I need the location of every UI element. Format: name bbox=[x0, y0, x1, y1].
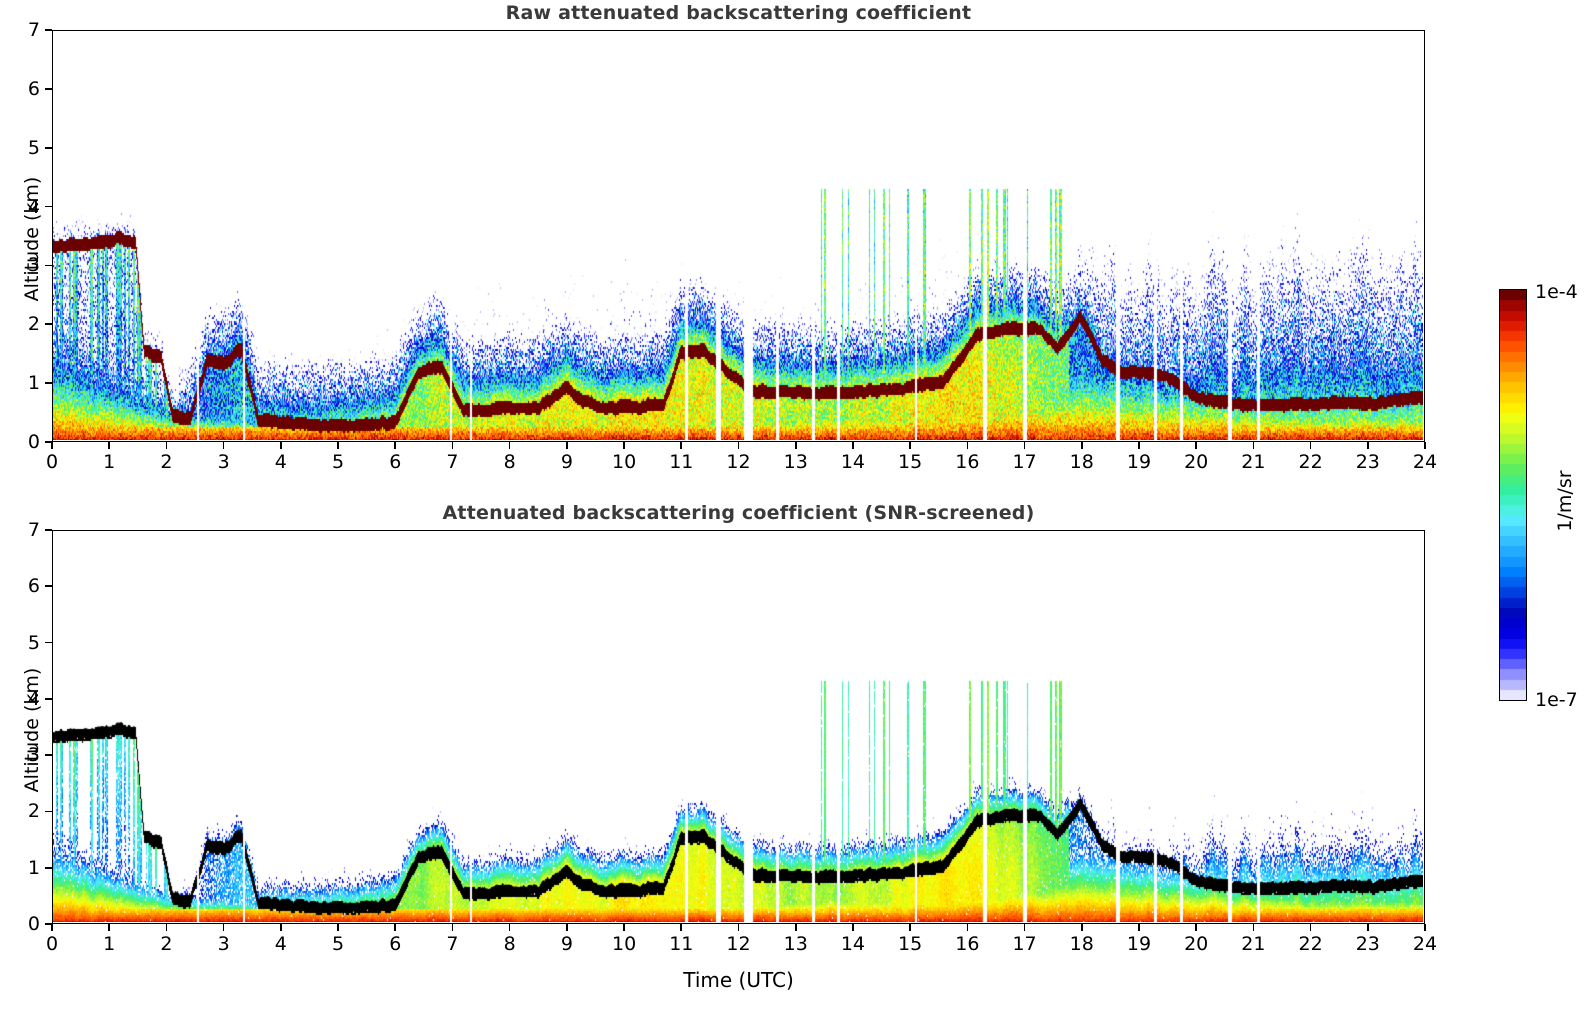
x-tick-label-raw-0: 0 bbox=[46, 451, 58, 473]
x-tick-label-scr-3: 3 bbox=[218, 933, 230, 955]
x-tick-label-scr-6: 6 bbox=[389, 933, 401, 955]
x-tick-scr-3 bbox=[223, 924, 225, 931]
x-tick-raw-6 bbox=[394, 442, 396, 449]
x-axis-label: Time (UTC) bbox=[52, 968, 1425, 992]
y-tick-scr-3 bbox=[45, 754, 52, 756]
x-tick-scr-4 bbox=[280, 924, 282, 931]
x-tick-label-scr-4: 4 bbox=[275, 933, 287, 955]
x-tick-scr-9 bbox=[566, 924, 568, 931]
y-tick-label-scr-2: 2 bbox=[10, 800, 40, 822]
y-tick-raw-2 bbox=[45, 323, 52, 325]
x-tick-raw-17 bbox=[1024, 442, 1026, 449]
y-tick-label-raw-5: 5 bbox=[10, 137, 40, 159]
y-tick-label-raw-3: 3 bbox=[10, 254, 40, 276]
y-tick-raw-1 bbox=[45, 382, 52, 384]
x-tick-label-raw-2: 2 bbox=[160, 451, 172, 473]
x-tick-scr-23 bbox=[1367, 924, 1369, 931]
y-tick-label-raw-4: 4 bbox=[10, 196, 40, 218]
panel-title-raw: Raw attenuated backscattering coefficien… bbox=[52, 2, 1425, 24]
x-tick-label-raw-8: 8 bbox=[504, 451, 516, 473]
x-tick-label-raw-14: 14 bbox=[841, 451, 865, 473]
x-tick-raw-21 bbox=[1253, 442, 1255, 449]
y-axis-label-screened: Altitude (km) bbox=[21, 650, 43, 810]
x-tick-scr-7 bbox=[452, 924, 454, 931]
x-tick-label-raw-15: 15 bbox=[898, 451, 922, 473]
x-tick-scr-22 bbox=[1310, 924, 1312, 931]
x-tick-raw-15 bbox=[909, 442, 911, 449]
x-tick-label-raw-4: 4 bbox=[275, 451, 287, 473]
y-tick-label-scr-5: 5 bbox=[10, 632, 40, 654]
y-tick-label-scr-3: 3 bbox=[10, 744, 40, 766]
y-tick-raw-5 bbox=[45, 147, 52, 149]
y-tick-label-scr-7: 7 bbox=[10, 519, 40, 541]
x-tick-label-scr-1: 1 bbox=[103, 933, 115, 955]
x-tick-raw-1 bbox=[108, 442, 110, 449]
x-tick-raw-12 bbox=[738, 442, 740, 449]
x-tick-label-scr-2: 2 bbox=[160, 933, 172, 955]
x-tick-scr-15 bbox=[909, 924, 911, 931]
x-tick-label-scr-16: 16 bbox=[955, 933, 979, 955]
axes-screened-backscatter[interactable] bbox=[52, 530, 1425, 924]
y-tick-scr-5 bbox=[45, 642, 52, 644]
y-tick-scr-0 bbox=[45, 923, 52, 925]
heatmap-screened-canvas bbox=[53, 531, 1423, 922]
x-tick-scr-21 bbox=[1253, 924, 1255, 931]
y-tick-label-scr-4: 4 bbox=[10, 688, 40, 710]
x-tick-raw-11 bbox=[680, 442, 682, 449]
x-tick-raw-10 bbox=[623, 442, 625, 449]
x-tick-label-scr-9: 9 bbox=[561, 933, 573, 955]
x-tick-raw-2 bbox=[166, 442, 168, 449]
x-tick-label-scr-20: 20 bbox=[1184, 933, 1208, 955]
figure-root: Raw attenuated backscattering coefficien… bbox=[0, 0, 1595, 1020]
x-tick-label-scr-21: 21 bbox=[1241, 933, 1265, 955]
x-tick-scr-24 bbox=[1424, 924, 1426, 931]
x-tick-label-raw-12: 12 bbox=[726, 451, 750, 473]
colorbar-gradient bbox=[1499, 289, 1527, 701]
y-tick-raw-0 bbox=[45, 441, 52, 443]
x-tick-raw-19 bbox=[1138, 442, 1140, 449]
x-tick-label-raw-7: 7 bbox=[446, 451, 458, 473]
x-tick-scr-17 bbox=[1024, 924, 1026, 931]
x-tick-raw-13 bbox=[795, 442, 797, 449]
colorbar[interactable] bbox=[1499, 289, 1527, 701]
x-tick-label-raw-22: 22 bbox=[1298, 451, 1322, 473]
x-tick-raw-3 bbox=[223, 442, 225, 449]
x-tick-label-raw-21: 21 bbox=[1241, 451, 1265, 473]
y-tick-scr-1 bbox=[45, 867, 52, 869]
x-tick-scr-11 bbox=[680, 924, 682, 931]
x-tick-raw-9 bbox=[566, 442, 568, 449]
x-tick-label-scr-11: 11 bbox=[669, 933, 693, 955]
y-tick-label-raw-0: 0 bbox=[10, 431, 40, 453]
x-tick-label-raw-3: 3 bbox=[218, 451, 230, 473]
x-tick-label-scr-8: 8 bbox=[504, 933, 516, 955]
y-tick-raw-6 bbox=[45, 88, 52, 90]
x-tick-label-scr-23: 23 bbox=[1356, 933, 1380, 955]
colorbar-unit-label: 1/m/sr bbox=[1554, 441, 1576, 561]
x-tick-label-scr-17: 17 bbox=[1012, 933, 1036, 955]
x-tick-label-scr-7: 7 bbox=[446, 933, 458, 955]
y-tick-raw-7 bbox=[45, 29, 52, 31]
x-tick-label-raw-11: 11 bbox=[669, 451, 693, 473]
x-tick-raw-22 bbox=[1310, 442, 1312, 449]
panel-title-screened: Attenuated backscattering coefficient (S… bbox=[52, 502, 1425, 524]
y-axis-label-raw: Altitude (km) bbox=[21, 159, 43, 319]
x-tick-raw-7 bbox=[452, 442, 454, 449]
x-tick-raw-16 bbox=[967, 442, 969, 449]
x-tick-label-raw-19: 19 bbox=[1127, 451, 1151, 473]
x-tick-label-raw-17: 17 bbox=[1012, 451, 1036, 473]
heatmap-raw-canvas bbox=[53, 31, 1423, 440]
x-tick-scr-12 bbox=[738, 924, 740, 931]
y-tick-scr-4 bbox=[45, 698, 52, 700]
x-tick-label-scr-24: 24 bbox=[1413, 933, 1437, 955]
colorbar-min-label: 1e-7 bbox=[1535, 689, 1578, 711]
x-tick-label-scr-22: 22 bbox=[1298, 933, 1322, 955]
x-tick-label-scr-0: 0 bbox=[46, 933, 58, 955]
y-tick-scr-2 bbox=[45, 811, 52, 813]
x-tick-raw-18 bbox=[1081, 442, 1083, 449]
x-tick-scr-16 bbox=[967, 924, 969, 931]
x-tick-label-scr-18: 18 bbox=[1070, 933, 1094, 955]
y-tick-label-scr-1: 1 bbox=[10, 857, 40, 879]
x-tick-raw-20 bbox=[1195, 442, 1197, 449]
x-tick-raw-0 bbox=[51, 442, 53, 449]
x-tick-label-raw-5: 5 bbox=[332, 451, 344, 473]
x-tick-label-scr-13: 13 bbox=[784, 933, 808, 955]
y-tick-scr-6 bbox=[45, 585, 52, 587]
x-tick-label-scr-10: 10 bbox=[612, 933, 636, 955]
x-tick-scr-10 bbox=[623, 924, 625, 931]
x-tick-raw-5 bbox=[337, 442, 339, 449]
x-tick-raw-14 bbox=[852, 442, 854, 449]
axes-raw-backscatter[interactable] bbox=[52, 30, 1425, 442]
y-tick-label-scr-0: 0 bbox=[10, 913, 40, 935]
x-tick-scr-1 bbox=[108, 924, 110, 931]
x-tick-scr-18 bbox=[1081, 924, 1083, 931]
x-tick-scr-20 bbox=[1195, 924, 1197, 931]
x-tick-label-raw-23: 23 bbox=[1356, 451, 1380, 473]
x-tick-label-raw-13: 13 bbox=[784, 451, 808, 473]
x-tick-raw-4 bbox=[280, 442, 282, 449]
y-tick-raw-4 bbox=[45, 206, 52, 208]
x-tick-label-scr-15: 15 bbox=[898, 933, 922, 955]
x-tick-label-raw-20: 20 bbox=[1184, 451, 1208, 473]
x-tick-scr-2 bbox=[166, 924, 168, 931]
x-tick-raw-23 bbox=[1367, 442, 1369, 449]
x-tick-scr-0 bbox=[51, 924, 53, 931]
x-tick-label-raw-1: 1 bbox=[103, 451, 115, 473]
y-tick-label-raw-1: 1 bbox=[10, 372, 40, 394]
x-tick-label-raw-16: 16 bbox=[955, 451, 979, 473]
colorbar-max-label: 1e-4 bbox=[1535, 281, 1578, 303]
y-tick-label-raw-7: 7 bbox=[10, 19, 40, 41]
x-tick-scr-14 bbox=[852, 924, 854, 931]
x-tick-label-raw-6: 6 bbox=[389, 451, 401, 473]
x-tick-label-scr-19: 19 bbox=[1127, 933, 1151, 955]
x-tick-scr-6 bbox=[394, 924, 396, 931]
y-tick-label-raw-6: 6 bbox=[10, 78, 40, 100]
x-tick-label-scr-5: 5 bbox=[332, 933, 344, 955]
x-tick-scr-13 bbox=[795, 924, 797, 931]
x-tick-label-scr-12: 12 bbox=[726, 933, 750, 955]
x-tick-scr-19 bbox=[1138, 924, 1140, 931]
x-tick-scr-8 bbox=[509, 924, 511, 931]
y-tick-label-scr-6: 6 bbox=[10, 575, 40, 597]
y-tick-label-raw-2: 2 bbox=[10, 313, 40, 335]
x-tick-label-raw-9: 9 bbox=[561, 451, 573, 473]
x-tick-scr-5 bbox=[337, 924, 339, 931]
y-tick-raw-3 bbox=[45, 265, 52, 267]
x-tick-label-scr-14: 14 bbox=[841, 933, 865, 955]
y-tick-scr-7 bbox=[45, 529, 52, 531]
x-tick-raw-8 bbox=[509, 442, 511, 449]
x-tick-label-raw-10: 10 bbox=[612, 451, 636, 473]
x-tick-raw-24 bbox=[1424, 442, 1426, 449]
x-tick-label-raw-18: 18 bbox=[1070, 451, 1094, 473]
x-tick-label-raw-24: 24 bbox=[1413, 451, 1437, 473]
